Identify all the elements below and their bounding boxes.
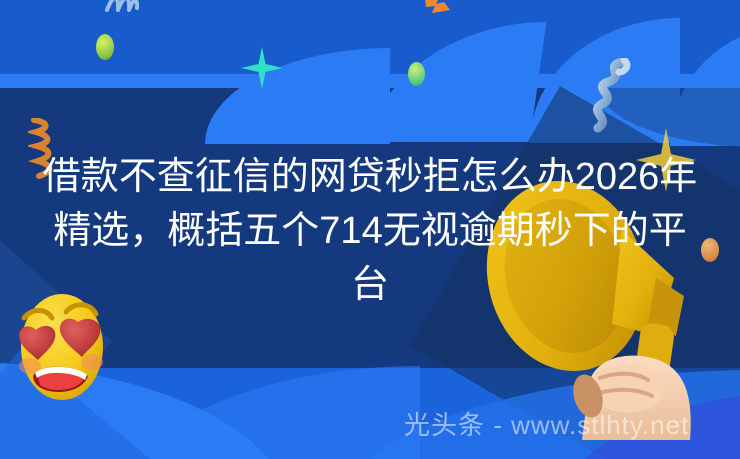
teal-sparkle-star-icon bbox=[240, 46, 284, 90]
site-watermark: 光头条 - www.stlhty.net bbox=[404, 410, 689, 440]
green-oval-confetti-icon bbox=[96, 34, 114, 60]
promo-banner: 借款不查征信的网贷秒拒怎么办2026年精选，概括五个714无视逾期秒下的平台 光… bbox=[0, 0, 740, 459]
green-oval-confetti-icon bbox=[408, 62, 425, 86]
orange-flag-confetti-icon bbox=[424, 0, 452, 14]
blue-spiral-streamer-icon bbox=[105, 0, 139, 14]
banner-headline: 借款不查征信的网贷秒拒怎么办2026年精选，概括五个714无视逾期秒下的平台 bbox=[36, 150, 704, 312]
